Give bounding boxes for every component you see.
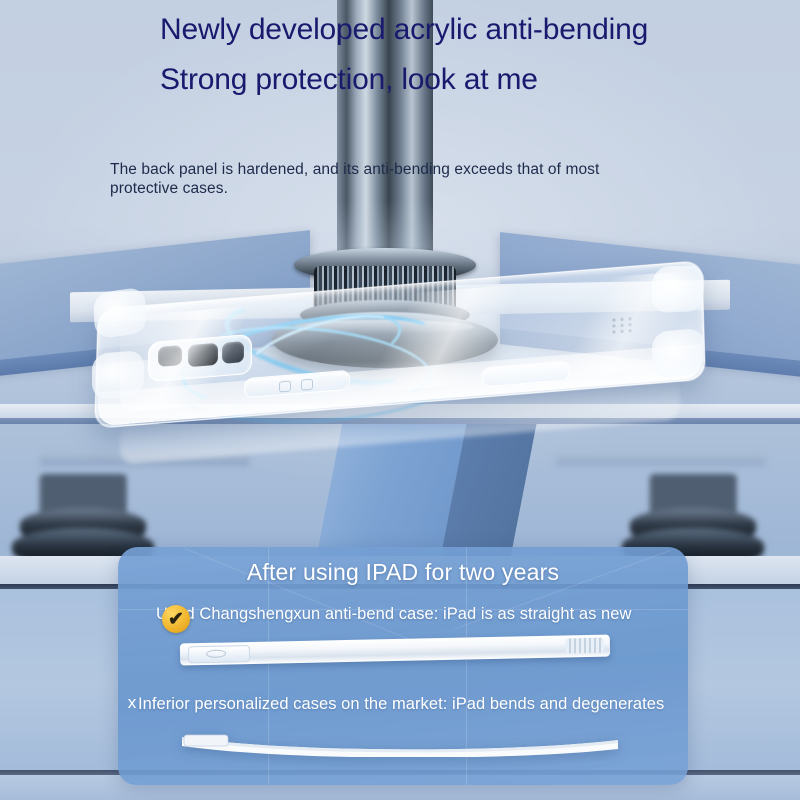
case-dimple-icon [206, 650, 226, 658]
product-marketing-image: Newly developed acrylic anti-bending Str… [0, 0, 800, 800]
headline-secondary: Strong protection, look at me [160, 63, 680, 96]
bent-case-shape [180, 731, 620, 757]
panel-title: After using IPAD for two years [118, 559, 688, 586]
case-corner-bumper [93, 287, 147, 340]
headline-block: Newly developed acrylic anti-bending Str… [160, 14, 680, 96]
camera-lens-icon [222, 341, 244, 364]
case-corner-bumper [92, 350, 144, 400]
speaker-grille-icon [610, 315, 644, 336]
transparent-tablet-case [96, 276, 704, 446]
check-badge-icon: ✔ [162, 605, 190, 633]
comparison-row-bad: Inferior personalized cases on the marke… [118, 695, 688, 714]
cross-glyph: x [128, 694, 137, 711]
comparison-panel: After using IPAD for two years Used Chan… [118, 547, 688, 785]
case-straight-illustration [180, 634, 610, 665]
headline-primary: Newly developed acrylic anti-bending [160, 14, 680, 45]
comparison-row-good: Used Changshengxun anti-bend case: iPad … [118, 605, 688, 624]
camera-lens-icon [188, 343, 218, 367]
comparison-label-bad: Inferior personalized cases on the marke… [118, 695, 688, 714]
case-bent-illustration [180, 731, 620, 757]
cross-badge-icon: x [122, 692, 142, 712]
case-corner-bumper [651, 265, 705, 313]
case-corner-bumper [652, 328, 704, 378]
comparison-label-good: Used Changshengxun anti-bend case: iPad … [130, 605, 688, 624]
camera-lens-icon [158, 345, 182, 367]
check-glyph: ✔ [168, 610, 184, 629]
body-copy: The back panel is hardened, and its anti… [110, 160, 670, 198]
blurred-rail-right [556, 452, 766, 466]
